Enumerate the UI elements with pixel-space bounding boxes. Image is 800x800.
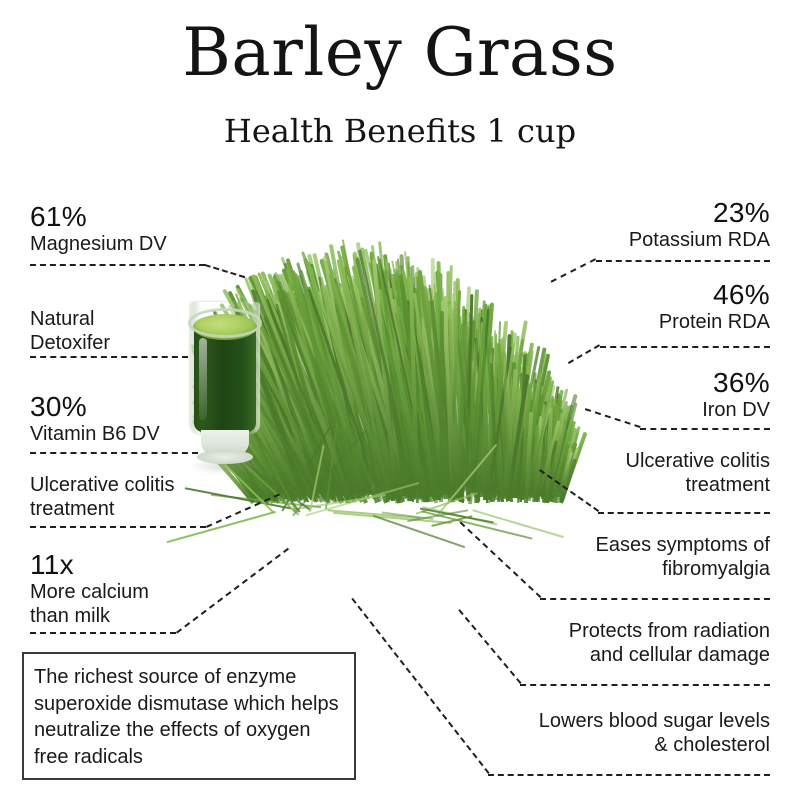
- callout-magnesium-value: 61%: [30, 200, 167, 233]
- callout-ulcerative-colitis-left-label: Ulcerative colitis treatment: [30, 474, 174, 521]
- connector-fibromyalgia: [460, 522, 542, 598]
- rule-magnesium: [30, 264, 205, 266]
- rule-ulcerative-colitis-left: [30, 526, 206, 528]
- barley-grass-blades: [240, 250, 570, 520]
- callout-protein-label: Protein RDA: [659, 311, 770, 335]
- callout-iron-value: 36%: [702, 366, 770, 399]
- rule-fibromyalgia: [540, 598, 770, 600]
- callout-magnesium-label: Magnesium DV: [30, 233, 167, 257]
- rule-potassium: [596, 260, 770, 262]
- callout-fibromyalgia: Eases symptoms of fibromyalgia: [595, 534, 770, 581]
- connector-blood-sugar: [351, 598, 489, 774]
- connector-calcium: [176, 548, 289, 634]
- callout-calcium: 11x More calcium than milk: [30, 548, 149, 628]
- rule-blood-sugar: [488, 774, 770, 776]
- callout-detoxifier-label: Natural Detoxifer: [30, 308, 110, 355]
- callout-radiation-label: Protects from radiation and cellular dam…: [569, 620, 770, 667]
- rule-protein: [600, 346, 770, 348]
- rule-ulcerative-colitis-right: [598, 512, 770, 514]
- callout-magnesium: 61% Magnesium DV: [30, 200, 167, 257]
- callout-calcium-label: More calcium than milk: [30, 581, 149, 628]
- glass-rim: [188, 308, 262, 338]
- callout-vitamin-b6-value: 30%: [30, 390, 160, 423]
- connector-iron: [585, 408, 641, 428]
- callout-potassium-value: 23%: [629, 196, 770, 229]
- callout-detoxifier: Natural Detoxifer: [30, 308, 110, 355]
- connector-radiation: [458, 609, 521, 684]
- product-photo: [150, 240, 570, 530]
- page-title: Barley Grass: [0, 18, 800, 87]
- callout-calcium-value: 11x: [30, 548, 149, 581]
- rule-radiation: [520, 684, 770, 686]
- callout-vitamin-b6-label: Vitamin B6 DV: [30, 423, 160, 447]
- callout-blood-sugar-label: Lowers blood sugar levels & cholesterol: [539, 710, 770, 757]
- rule-detoxifier: [30, 356, 188, 358]
- callout-potassium: 23% Potassium RDA: [629, 196, 770, 253]
- connector-protein: [568, 344, 600, 364]
- callout-protein-value: 46%: [659, 278, 770, 311]
- callout-vitamin-b6: 30% Vitamin B6 DV: [30, 390, 160, 447]
- callout-iron: 36% Iron DV: [702, 366, 770, 423]
- glass-foot: [197, 450, 253, 464]
- wheatgrass-juice-shot-glass: [188, 302, 262, 474]
- callout-potassium-label: Potassium RDA: [629, 229, 770, 253]
- callout-iron-label: Iron DV: [702, 399, 770, 423]
- callout-protein: 46% Protein RDA: [659, 278, 770, 335]
- callout-ulcerative-colitis-right: Ulcerative colitis treatment: [626, 450, 770, 497]
- page-subtitle: Health Benefits 1 cup: [0, 112, 800, 150]
- callout-fibromyalgia-label: Eases symptoms of fibromyalgia: [595, 534, 770, 581]
- rule-iron: [640, 428, 770, 430]
- callout-ulcerative-colitis-left: Ulcerative colitis treatment: [30, 474, 174, 521]
- note-text: The richest source of enzyme superoxide …: [34, 664, 350, 770]
- callout-ulcerative-colitis-right-label: Ulcerative colitis treatment: [626, 450, 770, 497]
- rule-calcium: [30, 632, 176, 634]
- callout-blood-sugar: Lowers blood sugar levels & cholesterol: [539, 710, 770, 757]
- infographic-page: Barley Grass Health Benefits 1 cup 61% M…: [0, 0, 800, 800]
- callout-radiation: Protects from radiation and cellular dam…: [569, 620, 770, 667]
- rule-vitamin-b6: [30, 452, 198, 454]
- glass-highlight: [199, 338, 207, 420]
